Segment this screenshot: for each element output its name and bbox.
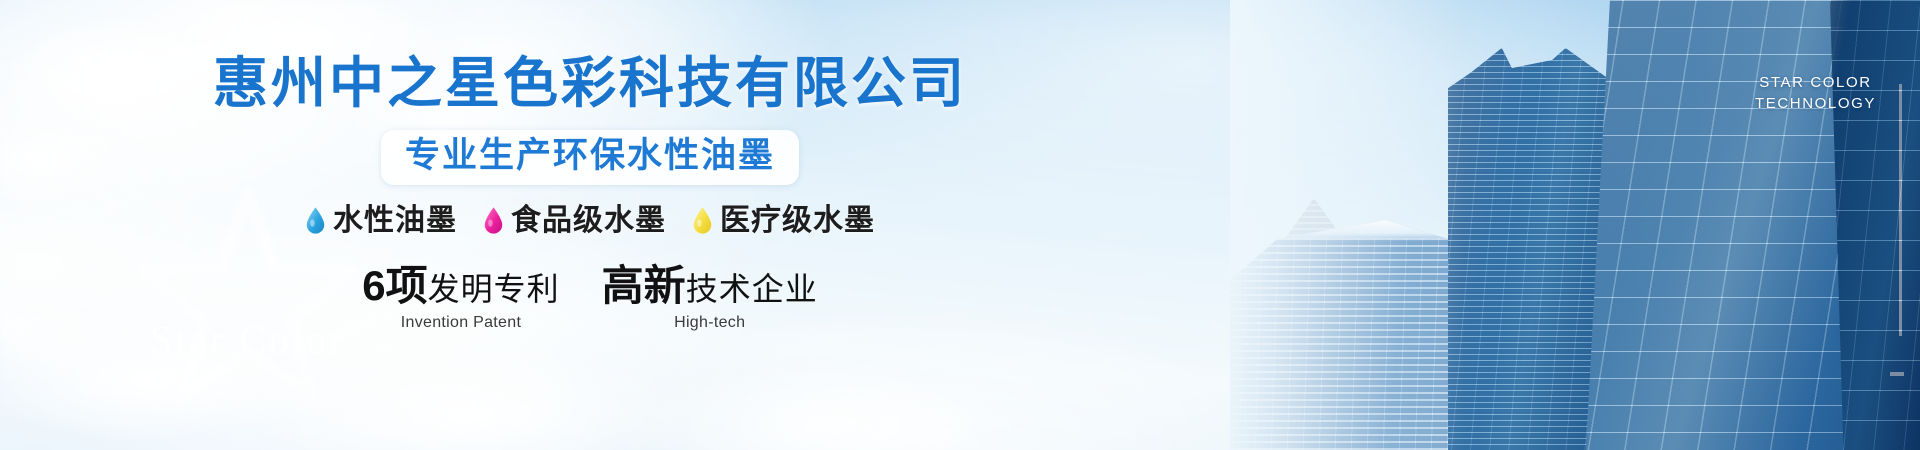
water-drop-icon: [483, 206, 504, 235]
feature-item-water-based-ink: 水性油墨: [305, 206, 457, 236]
badge-english-text: Invention Patent: [362, 314, 559, 332]
badge-english-text: High-tech: [602, 314, 818, 332]
company-title: 惠州中之星色彩科技有限公司: [213, 56, 967, 111]
badge-high-tech-enterprise: 高新 技术企业 High-tech: [602, 265, 818, 332]
feature-label: 水性油墨: [333, 206, 457, 236]
badge-strong-text: 6项: [362, 265, 427, 307]
badge-strong-text: 高新: [602, 265, 686, 307]
city-skyline-photo: [1230, 0, 1920, 450]
feature-item-food-grade-ink: 食品级水墨: [483, 206, 666, 236]
water-drop-icon: [305, 206, 326, 235]
promo-banner: Star Color STAR COLOR TECHNOLOGY 惠州中之星色彩…: [0, 0, 1920, 450]
subtitle-pill: 专业生产环保水性油墨: [381, 130, 799, 185]
badge-rest-text: 技术企业: [686, 273, 818, 305]
badge-main-line: 6项 发明专利: [362, 265, 559, 307]
subtitle-pill-text: 专业生产环保水性油墨: [405, 137, 775, 175]
feature-label: 食品级水墨: [511, 206, 666, 236]
badge-main-line: 高新 技术企业: [602, 265, 818, 307]
banner-content: 惠州中之星色彩科技有限公司 专业生产环保水性油墨 水性油墨: [0, 0, 1180, 450]
corner-brand-mark: STAR COLOR TECHNOLOGY: [1755, 72, 1876, 115]
badge-rest-text: 发明专利: [428, 273, 560, 305]
building-edge-slab: [1830, 0, 1920, 450]
feature-label: 医疗级水墨: [720, 206, 875, 236]
corner-brand-line-1: STAR COLOR: [1755, 72, 1876, 93]
feature-item-medical-grade-ink: 医疗级水墨: [692, 206, 875, 236]
corner-brand-line-2: TECHNOLOGY: [1755, 93, 1876, 114]
water-drop-icon: [692, 206, 713, 235]
badge-invention-patent: 6项 发明专利 Invention Patent: [362, 265, 559, 332]
building-dash-accent: [1890, 372, 1904, 376]
feature-list: 水性油墨 食品级水墨: [305, 206, 875, 236]
credential-badges: 6项 发明专利 Invention Patent 高新 技术企业 High-te…: [362, 265, 817, 332]
building-stripe-accent: [1899, 84, 1902, 336]
